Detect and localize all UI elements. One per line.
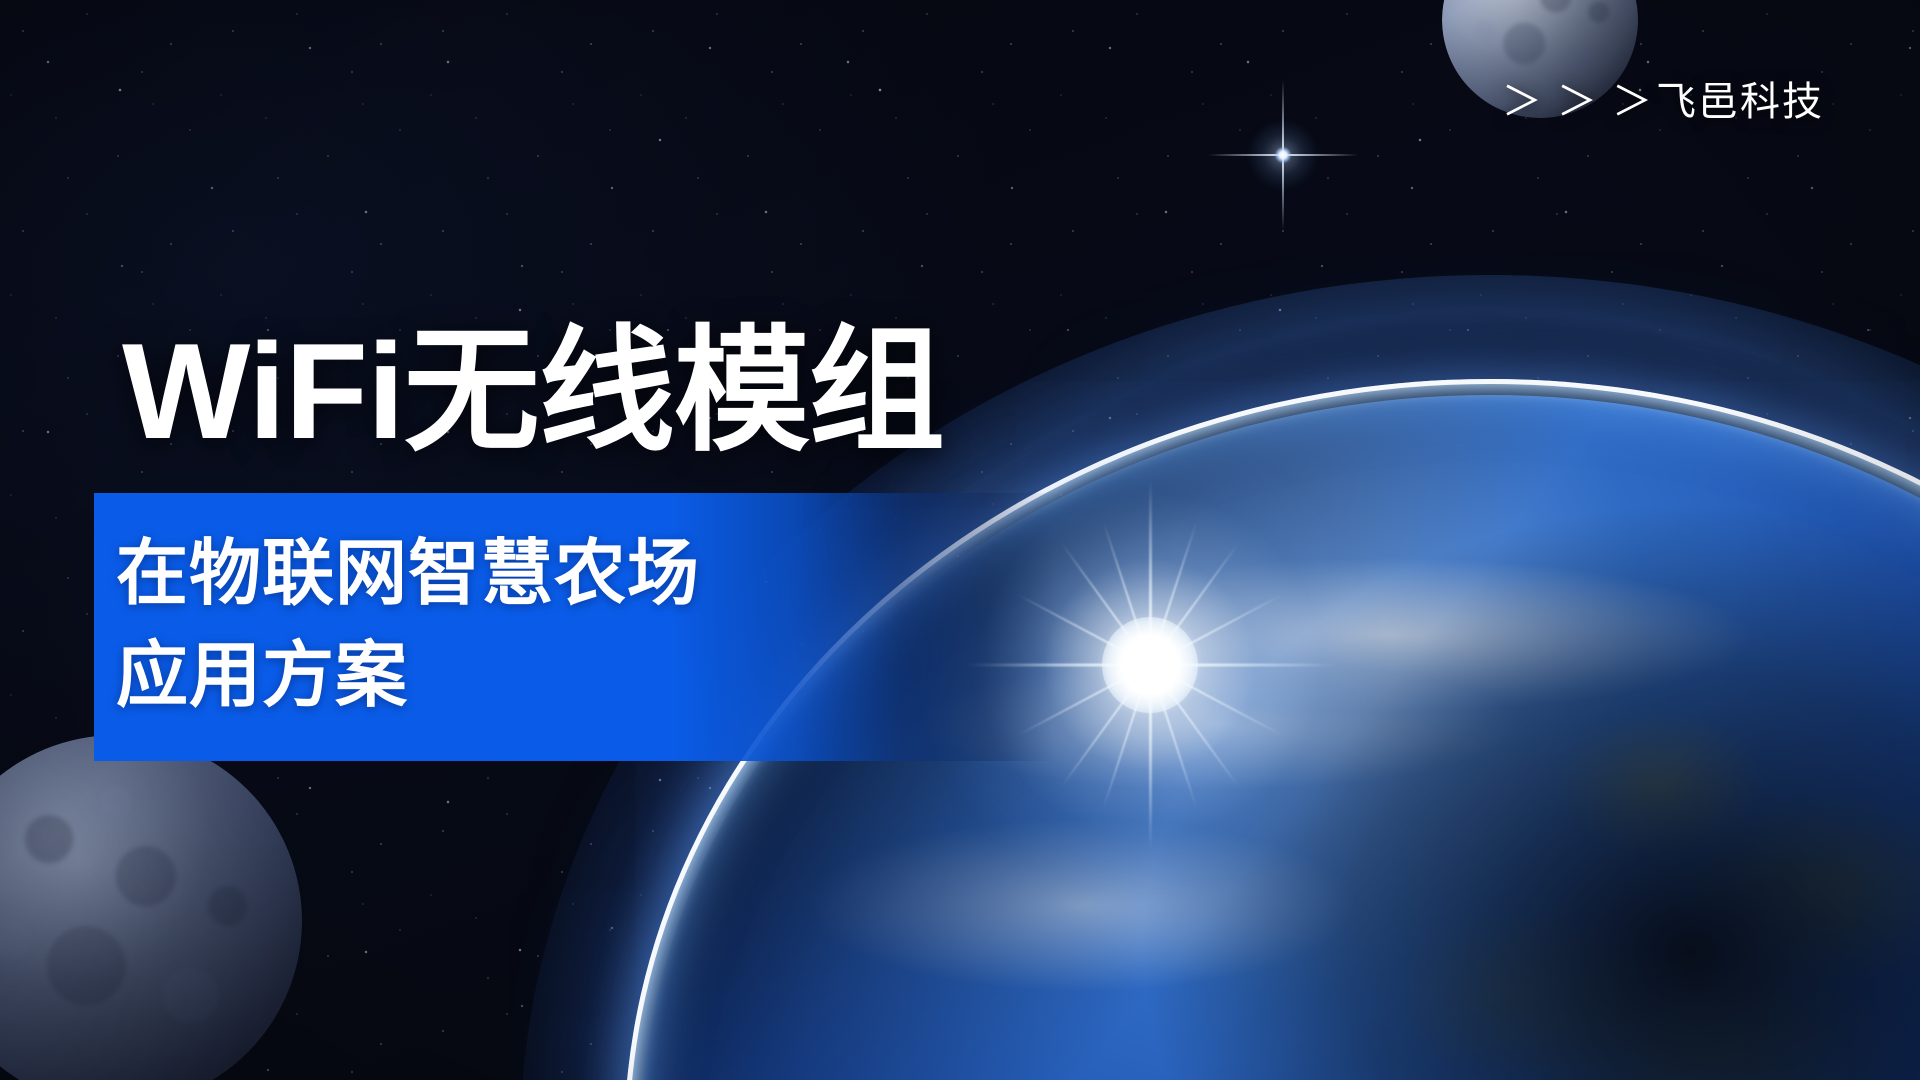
poster-canvas: ＞ ＞ ＞飞邑科技 WiFi无线模组 在物联网智慧农场 应用方案	[0, 0, 1920, 1080]
brand-mark[interactable]: ＞ ＞ ＞飞邑科技	[1502, 82, 1824, 122]
brand-name: 飞邑科技	[1656, 80, 1824, 124]
page-title: WiFi无线模组	[122, 322, 944, 461]
chevron-right-icon: ＞ ＞ ＞	[1502, 80, 1654, 124]
subtitle-line-2: 应用方案	[116, 625, 1054, 727]
subtitle-line-1: 在物联网智慧农场	[116, 523, 1054, 625]
subtitle-panel: 在物联网智慧农场 应用方案	[94, 493, 1054, 761]
